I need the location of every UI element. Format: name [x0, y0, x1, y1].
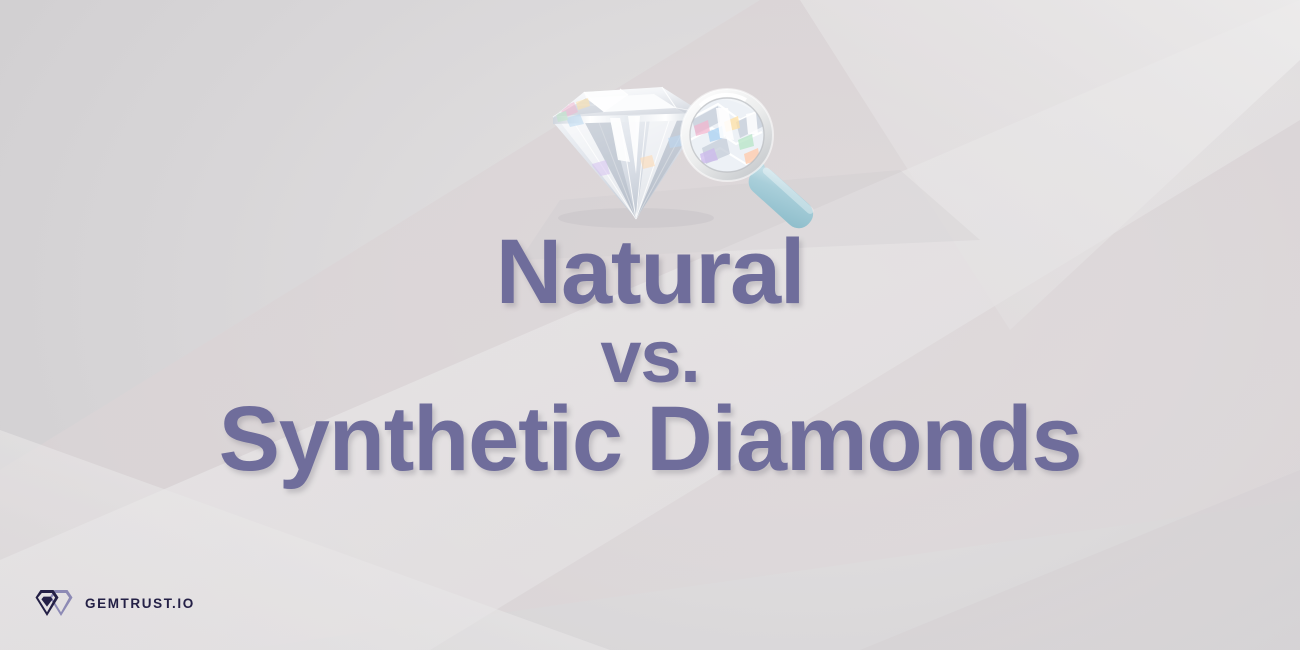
title-line-2: vs.: [0, 321, 1300, 393]
double-diamond-logo-mark: [34, 588, 74, 618]
brand-logo-text: GEMTRUST.IO: [85, 596, 195, 611]
logo-inner-gem: [41, 597, 52, 607]
diamond-with-magnifier-illustration: [540, 78, 840, 238]
title-line-3: Synthetic Diamonds: [0, 395, 1300, 484]
brilliant-cut-diamond: [553, 87, 703, 219]
page-title: Natural vs. Synthetic Diamonds: [0, 228, 1300, 484]
magnifying-glass: [681, 89, 818, 234]
hero-banner: Natural vs. Synthetic Diamonds GEMTRUST.…: [0, 0, 1300, 650]
brand-logo[interactable]: GEMTRUST.IO: [34, 588, 195, 618]
title-line-1: Natural: [0, 228, 1300, 317]
